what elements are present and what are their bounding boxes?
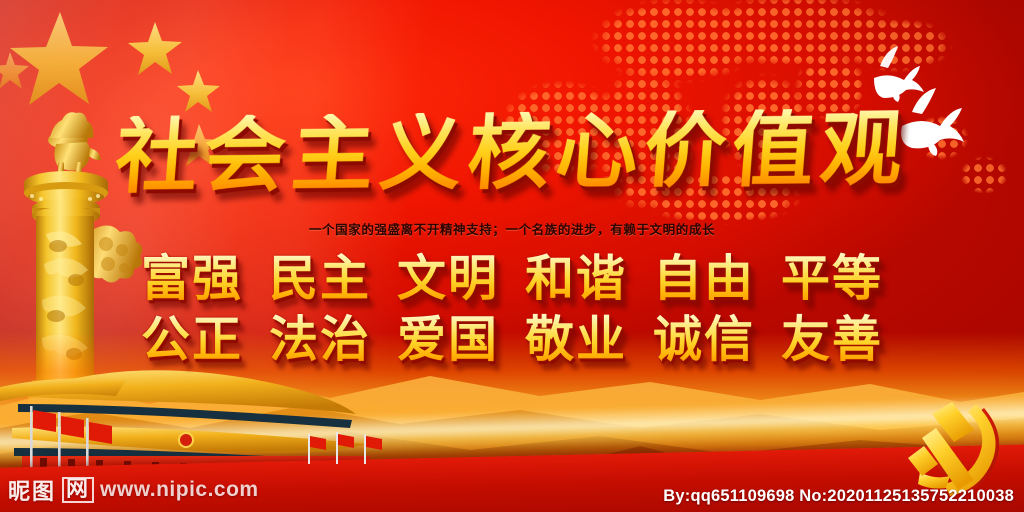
value-word: 富强 (141, 252, 243, 307)
value-word: 文明 (397, 252, 499, 307)
poster-canvas: 社会主义核心价值观 一个国家的强盛离不开精神支持；一个名族的进步，有赖于文明的成… (0, 0, 1024, 512)
value-word: 民主 (269, 252, 371, 307)
value-word: 爱国 (397, 313, 499, 368)
value-word: 法治 (269, 313, 371, 368)
watermark: 昵图 网 www.nipic.com (8, 474, 259, 506)
core-values-row-1: 富强 民主 文明 和谐 自由 平等 (0, 252, 1024, 307)
value-word: 友善 (781, 313, 883, 368)
core-values-row-2: 公正 法治 爱国 敬业 诚信 友善 (0, 313, 1024, 368)
value-word: 自由 (653, 252, 755, 307)
value-word: 敬业 (525, 313, 627, 368)
page-title: 社会主义核心价值观 (0, 107, 1024, 200)
core-values-block: 富强 民主 文明 和谐 自由 平等 公正 法治 爱国 敬业 诚信 友善 (0, 252, 1024, 374)
subtitle: 一个国家的强盛离不开精神支持；一个名族的进步，有赖于文明的成长 (0, 219, 1024, 238)
value-word: 和谐 (525, 252, 627, 307)
watermark-site-name: 昵图 (8, 474, 56, 506)
credit-text: By:qq651109698 No:20201125135752210038 (663, 487, 1014, 506)
value-word: 诚信 (653, 313, 755, 368)
watermark-url: www.nipic.com (100, 478, 259, 502)
value-word: 平等 (781, 252, 883, 307)
small-red-flags-icon (290, 428, 410, 468)
watermark-site-suffix: 网 (62, 477, 94, 503)
value-word: 公正 (141, 313, 243, 368)
